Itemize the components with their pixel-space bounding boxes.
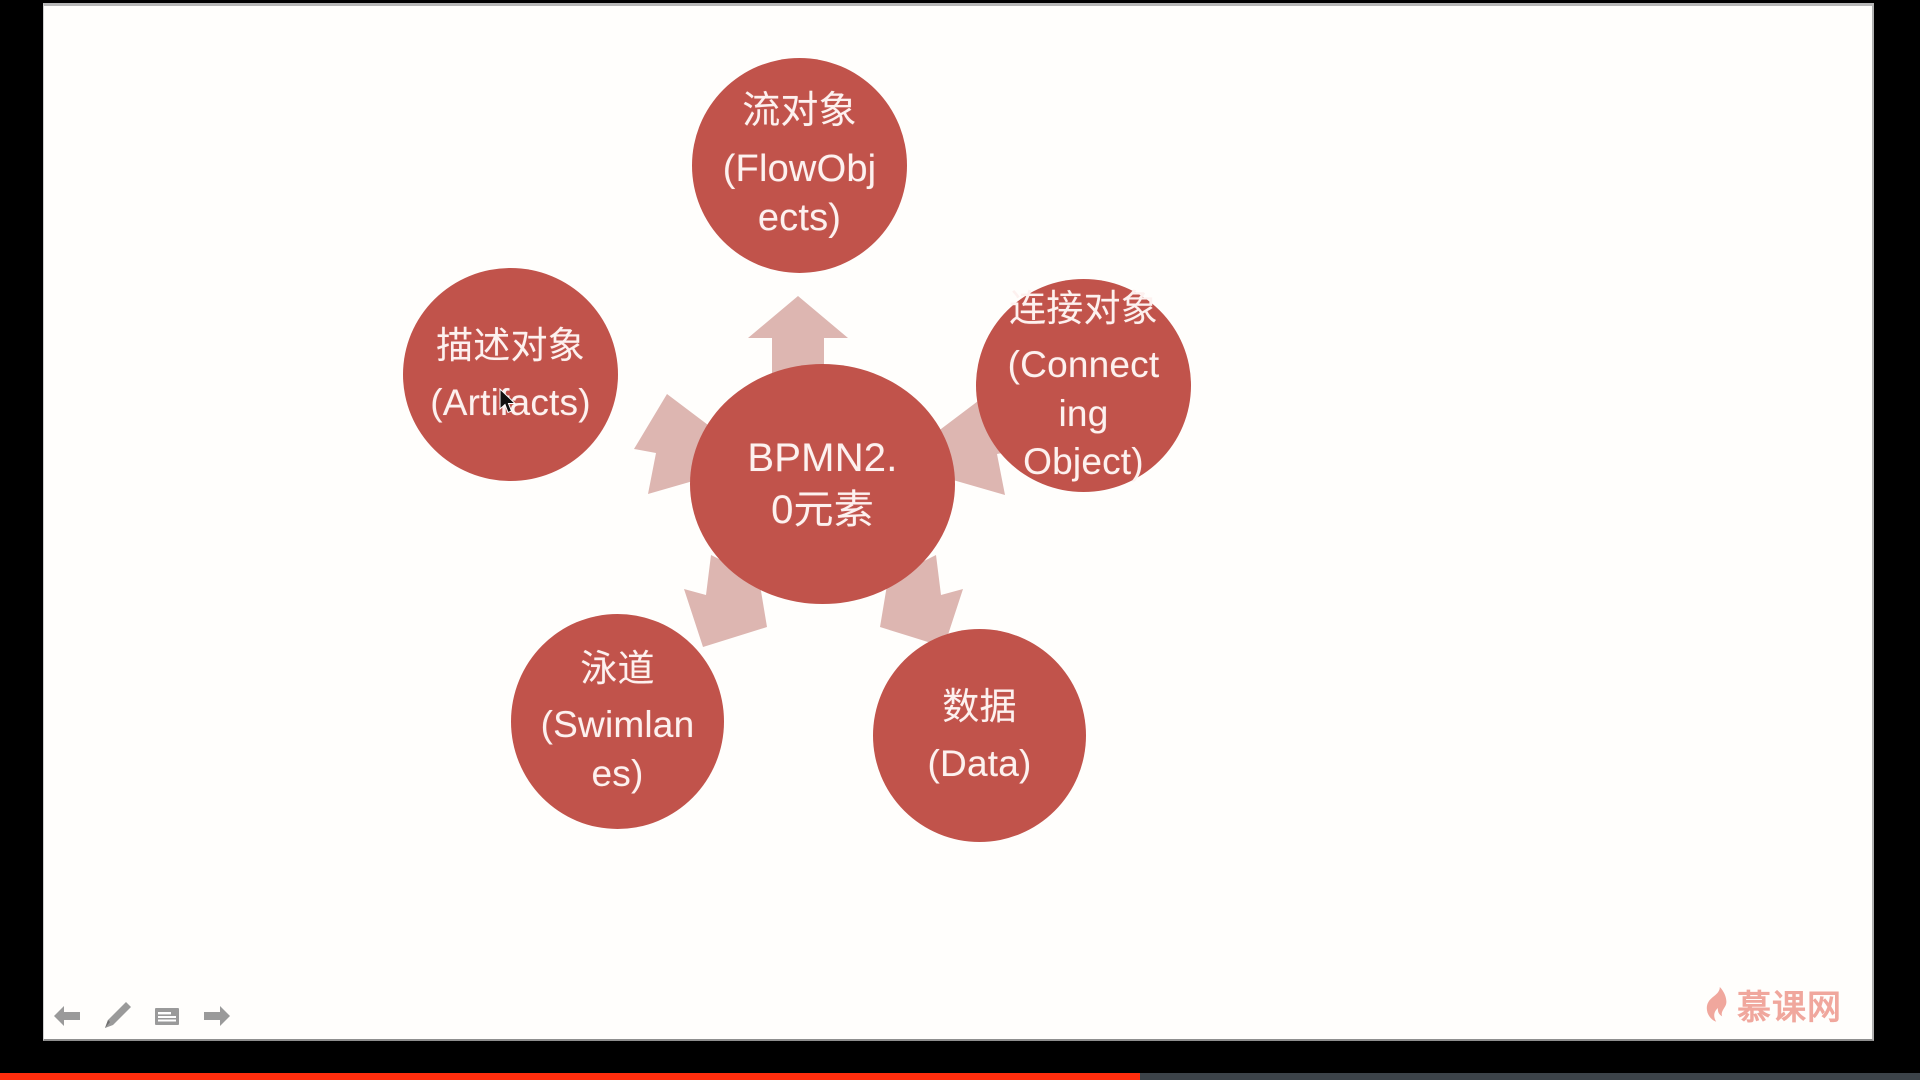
node-artifacts[interactable]: 描述对象 (Artifacts) xyxy=(403,268,618,481)
node-flow-objects-en-line-2: ects) xyxy=(758,194,841,243)
node-data-cn: 数据 xyxy=(942,683,1016,731)
node-artifacts-cn: 描述对象 xyxy=(436,322,585,370)
node-flow-objects-en-line-1: (FlowObj xyxy=(723,145,877,194)
node-connecting-object-en-line-2: ing xyxy=(1059,390,1109,438)
presentation-slide: 流对象 (FlowObj ects) 连接对象 (Connect ing Obj… xyxy=(43,3,1874,1041)
node-bpmn-center-line-1: BPMN2. xyxy=(747,432,897,484)
node-bpmn-center[interactable]: BPMN2. 0元素 xyxy=(690,364,955,604)
arrow-right-icon[interactable] xyxy=(200,999,234,1033)
node-data[interactable]: 数据 (Data) xyxy=(873,629,1086,842)
node-bpmn-center-line-2: 0元素 xyxy=(771,484,874,536)
node-flow-objects[interactable]: 流对象 (FlowObj ects) xyxy=(692,58,907,273)
node-swimlanes-en-line-1: (Swimlan xyxy=(541,701,695,749)
arrow-left-icon[interactable] xyxy=(50,999,84,1033)
video-progress-fill xyxy=(0,1073,1140,1080)
watermark-imooc: 慕课网 xyxy=(1703,980,1842,1029)
node-connecting-object-en-line-1: (Connect xyxy=(1008,341,1160,389)
node-connecting-object[interactable]: 连接对象 (Connect ing Object) xyxy=(976,279,1191,492)
node-swimlanes[interactable]: 泳道 (Swimlan es) xyxy=(511,614,724,829)
video-progress-track[interactable] xyxy=(0,1073,1920,1080)
letterbox-right xyxy=(1874,0,1920,1080)
watermark-text: 慕课网 xyxy=(1737,980,1842,1029)
video-player-screen: 流对象 (FlowObj ects) 连接对象 (Connect ing Obj… xyxy=(0,0,1920,1080)
node-artifacts-en: (Artifacts) xyxy=(430,379,590,427)
flame-icon xyxy=(1703,987,1733,1023)
slide-toolbar xyxy=(47,999,234,1033)
letterbox-left xyxy=(0,0,43,1080)
bpmn-elements-diagram: 流对象 (FlowObj ects) 连接对象 (Connect ing Obj… xyxy=(44,6,1872,1039)
node-data-en: (Data) xyxy=(928,740,1032,788)
pencil-icon[interactable] xyxy=(100,999,134,1033)
node-swimlanes-cn: 泳道 xyxy=(580,645,654,693)
node-swimlanes-en-line-2: es) xyxy=(592,750,644,798)
node-connecting-object-en-line-3: Object) xyxy=(1023,438,1144,486)
node-flow-objects-cn: 流对象 xyxy=(742,87,857,136)
node-connecting-object-cn: 连接对象 xyxy=(1009,285,1158,333)
notes-icon[interactable] xyxy=(150,999,184,1033)
